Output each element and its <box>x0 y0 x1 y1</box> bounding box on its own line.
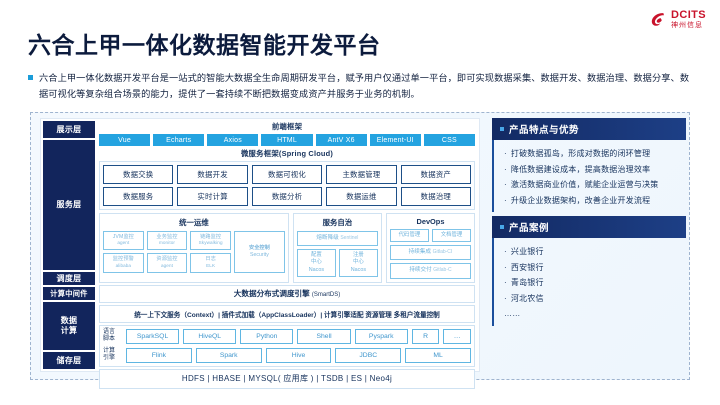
compute-rows: SparkSQL HiveQL Python Shell Pyspark R …… <box>126 329 471 363</box>
ops-jvm-monitor-en: agent <box>117 240 129 245</box>
devops-ci-cn: 持续集成 <box>409 249 431 255</box>
advantage-item-2: · 降低数据建设成本，提高数据治理效率 <box>504 162 678 178</box>
advantages-panel-title: 产品特点与优势 <box>509 122 579 136</box>
list-dot-icon: · <box>504 260 507 276</box>
microservice-label: 微服务框架(Spring Cloud) <box>99 148 475 159</box>
module-master-data[interactable]: 主数据管理 <box>326 165 396 184</box>
compute-script-row: SparkSQL HiveQL Python Shell Pyspark R … <box>126 329 471 344</box>
module-data-governance[interactable]: 数据治理 <box>401 187 471 206</box>
script-sparksql[interactable]: SparkSQL <box>126 329 179 344</box>
ops-col-2: 业务监控 monitor 资源监控 agent <box>147 231 188 273</box>
brand-name-cn: 神州信息 <box>671 22 706 29</box>
devops-ci-en: Gitlab-CI <box>433 249 453 255</box>
case-item-2: · 西安银行 <box>504 260 678 276</box>
module-data-exchange[interactable]: 数据交换 <box>103 165 173 184</box>
case-item-3-text: 青岛银行 <box>511 275 544 291</box>
service-modules-block: 数据交换 数据开发 数据可视化 主数据管理 数据资产 数据服务 实时计算 数据分… <box>99 161 475 210</box>
compute-label-script-l2: 脚本 <box>103 336 115 342</box>
ops-security-cn: 安全控制 <box>249 245 270 252</box>
devops-cd-cn: 持续交付 <box>409 267 431 273</box>
layer-label-column: 展示层 服务层 调度层 计算中间件 数据 计算 储存层 <box>41 119 97 371</box>
compute-label-script-l1: 语言 <box>103 329 115 335</box>
ops-col-3: 链路监控 Skywalking 日志 ELK <box>190 231 231 273</box>
storage-bar: HDFS | HBASE | MYSQL( 应用库 ) | TSDB | ES … <box>99 369 475 389</box>
scheduler-bar-en: (SmartDS) <box>312 292 340 298</box>
script-pyspark[interactable]: Pyspark <box>355 329 408 344</box>
ops-security[interactable]: 安全控制 Security <box>234 231 285 273</box>
advantage-item-3-text: 激活数据商业价值，赋能企业运营与决策 <box>511 177 659 193</box>
module-data-service[interactable]: 数据服务 <box>103 187 173 206</box>
frontend-band-label: 前端框架 <box>99 121 475 132</box>
list-dot-icon: · <box>504 193 507 209</box>
autonomy-centers-row: 配置 中心 Nacos 注册 中心 Nacos <box>297 249 378 277</box>
autonomy-registry-center-en: Nacos <box>351 267 366 273</box>
autonomy-circuit-breaker[interactable]: 熔断降级 Sentinel <box>297 231 378 246</box>
layer-compute-l1: 数据 <box>61 316 78 325</box>
slide-page: DCITS 神州信息 六合上甲一体化数据智能开发平台 六合上甲一体化数据开发平台… <box>0 0 720 405</box>
ops-log-cn: 日志 <box>191 256 230 263</box>
case-item-4: · 河北农信 <box>504 291 678 307</box>
case-item-1: · 兴业银行 <box>504 244 678 260</box>
ops-col-1: JVM监控 agent 监控预警 alibaba <box>103 231 144 273</box>
tag-axios[interactable]: Axios <box>207 134 258 146</box>
advantage-item-1: · 打破数据孤岛，形成对数据的闭环管理 <box>504 146 678 162</box>
cases-panel: 产品案例 · 兴业银行 · 西安银行 · 青岛银行 · 河北农信 …… <box>492 216 686 324</box>
autonomy-config-center[interactable]: 配置 中心 Nacos <box>297 249 336 277</box>
layer-middleware: 计算中间件 <box>43 287 95 300</box>
tag-css[interactable]: CSS <box>424 134 475 146</box>
devops-cd-en: Gitlab-C <box>433 267 451 273</box>
service-modules-row-2: 数据服务 实时计算 数据分析 数据运维 数据治理 <box>103 187 471 206</box>
list-dot-icon: · <box>504 146 507 162</box>
autonomy-registry-center-l2: 中心 <box>353 259 364 265</box>
advantage-item-4: · 升级企业数据架构，改善企业开发流程 <box>504 193 678 209</box>
list-dot-icon: · <box>504 162 507 178</box>
devops-group: DevOps 代码管理 文档管理 持续集成 Gitlab-CI 持续交付 Git… <box>386 213 475 282</box>
autonomy-circuit-breaker-cn: 熔断降级 <box>316 235 338 241</box>
ops-resource-monitor[interactable]: 资源监控 agent <box>147 253 188 273</box>
engine-spark[interactable]: Spark <box>196 348 262 363</box>
case-item-1-text: 兴业银行 <box>511 244 544 260</box>
ops-trace-monitor-cn: 链路监控 <box>191 234 230 241</box>
advantage-item-2-text: 降低数据建设成本，提高数据治理效率 <box>511 162 650 178</box>
ops-alert-monitor[interactable]: 监控预警 alibaba <box>103 253 144 273</box>
ops-alert-monitor-cn: 监控预警 <box>104 256 143 263</box>
tag-antv-x6[interactable]: AntV X6 <box>316 134 367 146</box>
cases-panel-title: 产品案例 <box>509 220 549 234</box>
autonomy-config-center-l2: 中心 <box>311 259 322 265</box>
ops-jvm-monitor[interactable]: JVM监控 agent <box>103 231 144 251</box>
module-realtime-compute[interactable]: 实时计算 <box>177 187 247 206</box>
autonomy-registry-center[interactable]: 注册 中心 Nacos <box>339 249 378 277</box>
script-python[interactable]: Python <box>240 329 293 344</box>
advantage-item-3: · 激活数据商业价值，赋能企业运营与决策 <box>504 177 678 193</box>
compute-label-engine-l1: 计算 <box>103 348 115 354</box>
scheduler-bar-cn: 大数据分布式调度引擎 <box>234 289 310 298</box>
layer-schedule: 调度层 <box>43 272 95 285</box>
compute-label-engine-l2: 引擎 <box>103 355 115 361</box>
brand-logo: DCITS 神州信息 <box>650 10 706 29</box>
service-autonomy-title: 服务自治 <box>297 216 378 231</box>
tag-echarts[interactable]: Echarts <box>153 134 204 146</box>
autonomy-circuit-breaker-en: Sentinel <box>340 235 358 241</box>
unified-ops-group: 统一运维 JVM监控 agent 监控预警 alibaba <box>99 213 289 282</box>
compute-engine-row: Flink Spark Hive JDBC ML <box>126 348 471 363</box>
ops-business-monitor[interactable]: 业务监控 monitor <box>147 231 188 251</box>
bullet-square-icon <box>28 75 33 80</box>
layer-compute-l2: 计算 <box>61 326 78 335</box>
ops-resource-monitor-cn: 资源监控 <box>148 256 187 263</box>
architecture-body: 前端框架 Vue Echarts Axios HTML AntV X6 Elem… <box>97 119 479 371</box>
ops-business-monitor-cn: 业务监控 <box>148 234 187 241</box>
devops-title: DevOps <box>390 216 471 229</box>
devops-code-management[interactable]: 代码管理 <box>390 229 429 242</box>
case-item-3: · 青岛银行 <box>504 275 678 291</box>
tag-html[interactable]: HTML <box>261 134 312 146</box>
page-subtitle-text: 六合上甲一体化数据开发平台是一站式的智能大数据全生命周期研发平台，赋予用户仅通过… <box>39 70 696 102</box>
case-item-5: …… <box>504 306 678 322</box>
tag-vue[interactable]: Vue <box>99 134 150 146</box>
module-data-ops[interactable]: 数据运维 <box>326 187 396 206</box>
unified-ops-title: 统一运维 <box>103 216 285 231</box>
autonomy-config-center-l1: 配置 <box>311 252 322 258</box>
ops-jvm-monitor-cn: JVM监控 <box>104 234 143 241</box>
compute-labels: 语言 脚本 计算 引擎 <box>103 329 123 363</box>
page-title: 六合上甲一体化数据智能开发平台 <box>28 26 381 60</box>
advantages-panel-body: · 打破数据孤岛，形成对数据的闭环管理 · 降低数据建设成本，提高数据治理效率 … <box>492 140 686 212</box>
ops-log-en: ELK <box>206 263 215 268</box>
devops-doc-management[interactable]: 文档管理 <box>432 229 471 242</box>
middleware-bar: 统一上下文服务（Context）| 插件式加载（AppClassLoader）|… <box>99 305 475 323</box>
layer-presentation: 展示层 <box>43 121 95 138</box>
advantage-item-4-text: 升级企业数据架构，改善企业开发流程 <box>511 193 650 209</box>
script-shell[interactable]: Shell <box>297 329 350 344</box>
frontend-tag-row: Vue Echarts Axios HTML AntV X6 Element-U… <box>99 134 475 146</box>
module-data-visualization[interactable]: 数据可视化 <box>252 165 322 184</box>
module-data-analysis[interactable]: 数据分析 <box>252 187 322 206</box>
advantage-item-1-text: 打破数据孤岛，形成对数据的闭环管理 <box>511 146 650 162</box>
layer-storage: 储存层 <box>43 352 95 369</box>
ops-alert-monitor-en: alibaba <box>116 263 132 268</box>
panel-square-icon <box>500 127 504 131</box>
ops-resource-monitor-en: agent <box>161 263 173 268</box>
unified-ops-grid: JVM监控 agent 监控预警 alibaba 业务监控 moni <box>103 231 285 273</box>
service-autonomy-group: 服务自治 熔断降级 Sentinel 配置 中心 Nacos 注册 <box>293 213 382 282</box>
brand-name-en: DCITS <box>671 10 706 21</box>
devops-ci[interactable]: 持续集成 Gitlab-CI <box>390 245 471 260</box>
autonomy-config-center-en: Nacos <box>309 267 324 273</box>
layer-compute: 数据 计算 <box>43 302 95 350</box>
layer-service: 服务层 <box>43 140 95 270</box>
scheduler-bar: 大数据分布式调度引擎 (SmartDS) <box>99 285 475 303</box>
dcits-mark-icon <box>650 11 667 28</box>
case-item-2-text: 西安银行 <box>511 260 544 276</box>
ops-security-en: Security <box>250 252 269 259</box>
engine-flink[interactable]: Flink <box>126 348 192 363</box>
script-more[interactable]: … <box>443 329 471 344</box>
advantages-panel: 产品特点与优势 · 打破数据孤岛，形成对数据的闭环管理 · 降低数据建设成本，提… <box>492 118 686 202</box>
script-r[interactable]: R <box>412 329 440 344</box>
devops-cd[interactable]: 持续交付 Gitlab-C <box>390 263 471 278</box>
advantages-panel-header: 产品特点与优势 <box>492 118 686 140</box>
engine-ml[interactable]: ML <box>405 348 471 363</box>
engine-jdbc[interactable]: JDBC <box>335 348 401 363</box>
cases-panel-body: · 兴业银行 · 西安银行 · 青岛银行 · 河北农信 …… <box>492 238 686 326</box>
engine-hive[interactable]: Hive <box>266 348 332 363</box>
platform-support-row: 统一运维 JVM监控 agent 监控预警 alibaba <box>99 213 475 282</box>
ops-trace-monitor[interactable]: 链路监控 Skywalking <box>190 231 231 251</box>
list-dot-icon: · <box>504 177 507 193</box>
module-data-development[interactable]: 数据开发 <box>177 165 247 184</box>
list-dot-icon: · <box>504 244 507 260</box>
case-item-5-text: …… <box>504 306 520 322</box>
compute-block: 语言 脚本 计算 引擎 SparkSQL HiveQL Python Shell… <box>99 325 475 367</box>
case-item-4-text: 河北农信 <box>511 291 544 307</box>
tag-element-ui[interactable]: Element-UI <box>370 134 421 146</box>
compute-label-engine: 计算 引擎 <box>103 348 123 363</box>
list-dot-icon: · <box>504 275 507 291</box>
page-subtitle: 六合上甲一体化数据开发平台是一站式的智能大数据全生命周期研发平台，赋予用户仅通过… <box>28 70 696 102</box>
cases-panel-header: 产品案例 <box>492 216 686 238</box>
ops-trace-monitor-en: Skywalking <box>199 240 223 245</box>
panel-square-icon <box>500 225 504 229</box>
script-hiveql[interactable]: HiveQL <box>183 329 236 344</box>
module-data-asset[interactable]: 数据资产 <box>401 165 471 184</box>
architecture-diagram: 展示层 服务层 调度层 计算中间件 数据 计算 储存层 前端框架 Vue Ech… <box>40 118 480 372</box>
list-dot-icon: · <box>504 291 507 307</box>
ops-business-monitor-en: monitor <box>159 240 175 245</box>
service-modules-row-1: 数据交换 数据开发 数据可视化 主数据管理 数据资产 <box>103 165 471 184</box>
autonomy-registry-center-l1: 注册 <box>353 252 364 258</box>
devops-top-row: 代码管理 文档管理 <box>390 229 471 242</box>
compute-label-script: 语言 脚本 <box>103 329 123 344</box>
ops-log[interactable]: 日志 ELK <box>190 253 231 273</box>
